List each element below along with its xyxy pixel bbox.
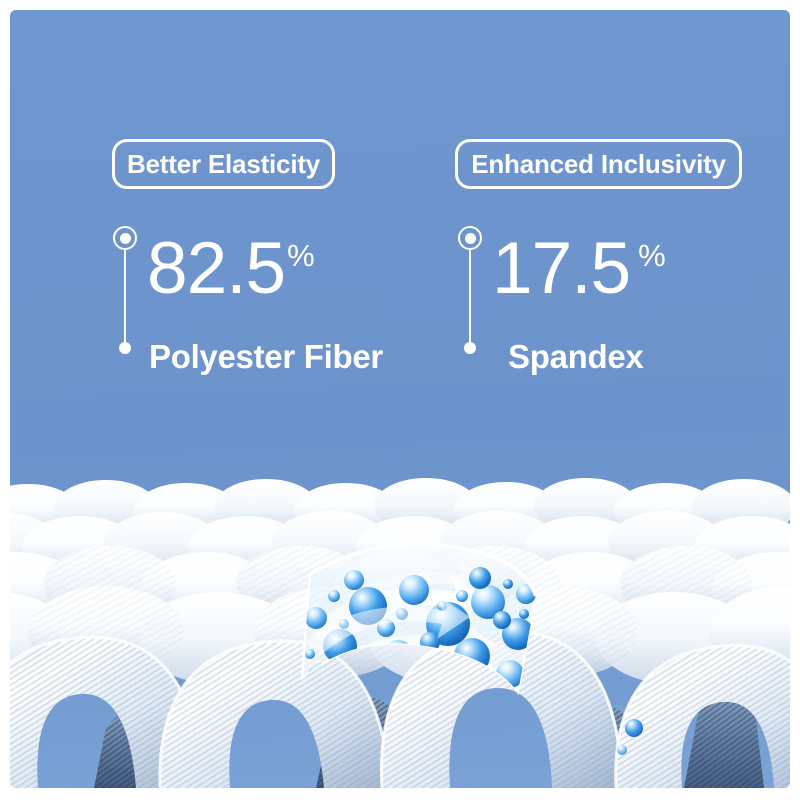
pin-stem-icon bbox=[124, 250, 126, 348]
stat-label: Spandex bbox=[508, 338, 643, 376]
blue-panel: Better Elasticity Enhanced Inclusivity 8… bbox=[10, 10, 790, 788]
pin-marker-icon bbox=[458, 226, 484, 356]
pin-dot-icon bbox=[464, 342, 476, 354]
stat-value-row: 17.5 % bbox=[492, 236, 666, 302]
stat-value: 17.5 bbox=[492, 236, 630, 302]
stat-value: 82.5 bbox=[147, 236, 285, 302]
pin-marker-icon bbox=[113, 226, 139, 356]
stat-value-row: 82.5 % bbox=[147, 236, 315, 302]
poster-root: Better Elasticity Enhanced Inclusivity 8… bbox=[0, 0, 800, 800]
pin-stem-icon bbox=[469, 250, 471, 348]
knitted-fabric-illustration bbox=[10, 478, 790, 788]
pin-ring-icon bbox=[113, 226, 137, 250]
badge-enhanced-inclusivity: Enhanced Inclusivity bbox=[455, 139, 742, 189]
stat-label: Polyester Fiber bbox=[149, 338, 383, 376]
stat-unit: % bbox=[287, 240, 315, 271]
stat-unit: % bbox=[638, 240, 666, 271]
pin-dot-icon bbox=[119, 342, 131, 354]
pin-ring-icon bbox=[458, 226, 482, 250]
badge-better-elasticity: Better Elasticity bbox=[112, 139, 335, 189]
